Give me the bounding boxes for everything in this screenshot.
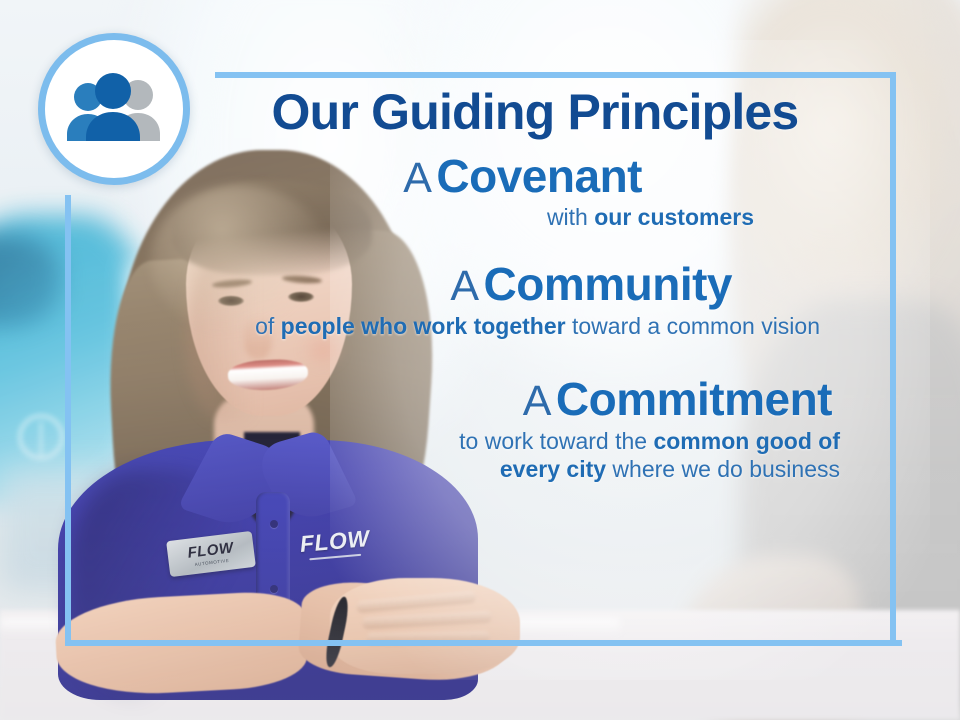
shirt-chest-logo: FLOW <box>299 525 371 561</box>
principle-word: Commitment <box>556 373 832 425</box>
subtext-run: of <box>255 313 281 339</box>
principle-lead: A Community <box>180 261 732 309</box>
principle-word: Community <box>484 258 733 310</box>
subtext-emphasis: our customers <box>594 204 754 230</box>
finger <box>366 631 490 645</box>
principle-article: A <box>450 262 479 310</box>
page-title: Our Guiding Principles <box>180 86 850 139</box>
people-group-badge <box>38 33 190 185</box>
subtext-emphasis: people who work together <box>281 313 566 339</box>
principle-lead: A Commitment <box>180 376 832 424</box>
guiding-principles-graphic: FLOW AUTOMOTIVE FLOW <box>0 0 960 720</box>
principle-subtext: of people who work together toward a com… <box>180 312 820 340</box>
principles-copy: Our Guiding Principles A Covenant with o… <box>180 86 880 483</box>
principle-community: A Community of people who work together … <box>180 261 850 340</box>
principle-subtext: with our customers <box>180 203 754 231</box>
principle-word: Covenant <box>436 150 642 202</box>
chest-logo-text: FLOW <box>299 525 371 557</box>
shirt-button <box>270 585 278 593</box>
principle-lead: A Covenant <box>180 153 642 201</box>
people-group-icon <box>60 72 168 146</box>
subtext-run: where we do business <box>606 456 840 482</box>
principle-article: A <box>523 377 552 425</box>
subtext-run: to work toward the <box>459 428 653 454</box>
subtext-run: with <box>547 204 594 230</box>
principle-article: A <box>403 154 432 202</box>
subtext-run: toward a common vision <box>566 313 820 339</box>
principle-covenant: A Covenant with our customers <box>180 153 850 232</box>
principle-commitment: A Commitment to work toward the common g… <box>180 376 850 483</box>
principle-subtext: to work toward the common good of every … <box>440 427 840 483</box>
shirt-button <box>270 520 278 528</box>
